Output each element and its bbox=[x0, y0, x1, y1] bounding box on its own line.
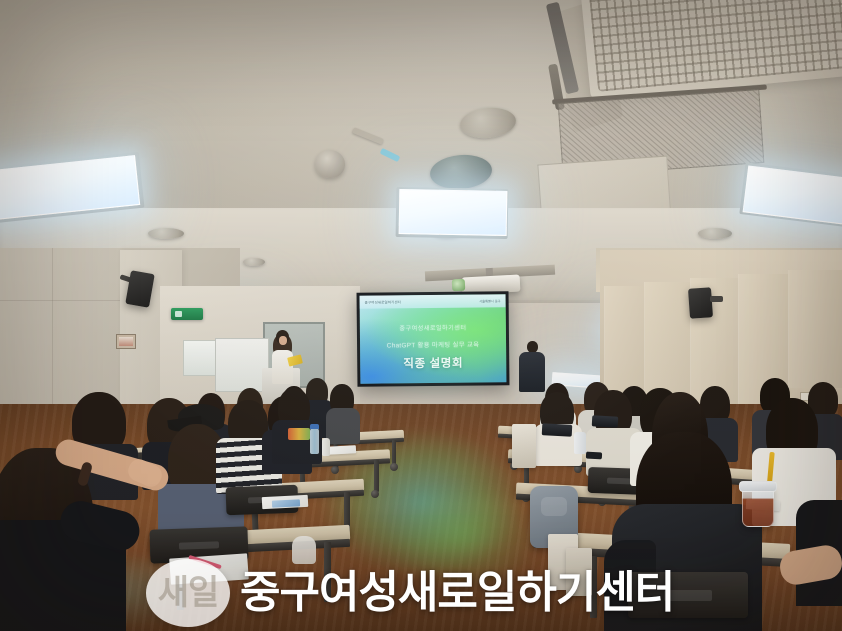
laptop-icon bbox=[542, 423, 573, 437]
presenter-body bbox=[272, 350, 293, 384]
bottle-cap bbox=[310, 424, 319, 429]
tote-bag-icon bbox=[566, 548, 592, 596]
presenter-face bbox=[279, 336, 287, 345]
wall-notice-icon bbox=[116, 334, 136, 349]
desk-caster bbox=[371, 490, 379, 498]
person-torso bbox=[326, 408, 360, 444]
iced-coffee-cup-icon bbox=[742, 487, 774, 527]
speaker-mount bbox=[710, 296, 723, 302]
document-paper bbox=[169, 553, 249, 584]
slide-logo-left: 중구여성새로일하기센터 bbox=[365, 299, 402, 304]
tshirt-graphic bbox=[288, 428, 310, 440]
slide-course-line: ChatGPT 활용 마케팅 실무 교육 bbox=[360, 339, 506, 350]
projected-slide: 중구여성새로일하기센터 서울특별시 중구 중구여성새로일하기센터 ChatGPT… bbox=[360, 294, 507, 384]
mask-icon bbox=[292, 536, 316, 564]
side-board-panel bbox=[215, 338, 269, 392]
tote-bag-icon bbox=[512, 424, 536, 468]
document-handout bbox=[272, 499, 300, 507]
slide-organization: 중구여성새로일하기센터 bbox=[360, 322, 506, 333]
slide-header-band: 중구여성새로일하기센터 서울특별시 중구 bbox=[360, 294, 506, 309]
phone-icon bbox=[586, 452, 602, 460]
desk-leg bbox=[324, 542, 331, 602]
laptop-icon bbox=[592, 415, 619, 427]
water-bottle-icon bbox=[310, 428, 319, 454]
desk-caster bbox=[331, 466, 339, 474]
exit-sign-icon bbox=[171, 308, 203, 320]
staff-body bbox=[519, 352, 545, 392]
document-paper bbox=[326, 445, 356, 455]
chair-back bbox=[628, 572, 748, 618]
slide-logo-right: 서울특별시 중구 bbox=[479, 298, 500, 303]
tumbler-icon bbox=[574, 432, 586, 454]
projection-screen: 중구여성새로일하기센터 서울특별시 중구 중구여성새로일하기센터 ChatGPT… bbox=[357, 291, 510, 387]
wall-speaker-icon bbox=[688, 287, 713, 319]
cup-lid-icon bbox=[739, 481, 777, 492]
seminar-room-photo: 중구여성새로일하기센터 서울특별시 중구 중구여성새로일하기센터 ChatGPT… bbox=[0, 0, 842, 631]
desk-leg bbox=[374, 460, 379, 492]
desk-caster bbox=[390, 463, 398, 471]
projector-lens-icon bbox=[452, 279, 466, 292]
slide-title: 직종 설명회 bbox=[360, 354, 506, 372]
tumbler-icon bbox=[322, 438, 330, 456]
